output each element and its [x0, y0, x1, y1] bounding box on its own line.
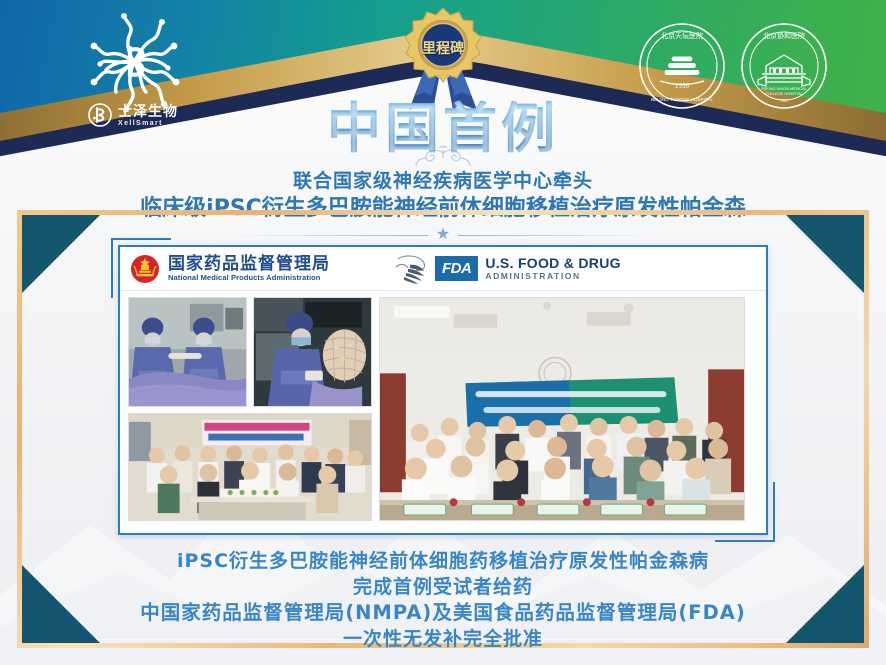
team-cake-scene-icon [129, 414, 371, 520]
svg-text:北京天坛医院: 北京天坛医院 [661, 31, 703, 40]
bottom-copy-line-2: 完成首例受试者给药 [0, 574, 886, 600]
collage-left-column [128, 297, 372, 521]
surgery-photo-right [253, 297, 372, 407]
surgery-photo-left [128, 297, 247, 407]
bottom-copy-line-3: 中国家药品监督管理局(NMPA)及美国食品药品监督管理局(FDA) [0, 600, 886, 626]
launch-meeting-scene-icon [380, 298, 744, 520]
nmpa-name-en: National Medical Products Administration [168, 274, 330, 282]
subtitle-line-1: 联合国家级神经疾病医学中心牵头 [0, 168, 886, 194]
surgery-scene-icon [129, 298, 246, 406]
china-national-emblem-icon [130, 254, 160, 284]
svg-text:北京协和医院: 北京协和医院 [763, 31, 805, 40]
content-card: 国家药品监督管理局 National Medical Products Admi… [118, 245, 768, 535]
bottom-copy-line-1: iPSC衍生多巴胺能神经前体细胞药移植治疗原发性帕金森病 [0, 548, 886, 574]
ornament-flourish-icon [398, 146, 488, 168]
medal-label: 里程碑 [422, 38, 464, 58]
team-photo-banner [379, 297, 745, 521]
fda-title-line-2: ADMINISTRATION [485, 272, 620, 281]
poster-root: 士泽生物 XellSmart 1956 北京天坛医院 BEIJING TIANT… [0, 0, 886, 665]
nmpa-name-cn: 国家药品监督管理局 [168, 255, 330, 273]
fda-badge: FDA [435, 256, 478, 281]
agency-logo-bar: 国家药品监督管理局 National Medical Products Admi… [120, 247, 766, 291]
team-photo-cake [128, 413, 372, 521]
nmpa-logo: 国家药品监督管理局 National Medical Products Admi… [130, 254, 330, 284]
bottom-copy-line-4: 一次性无发补完全批准 [0, 626, 886, 652]
collage-top-row [128, 297, 372, 407]
bottom-copy-block: iPSC衍生多巴胺能神经前体细胞药移植治疗原发性帕金森病 完成首例受试者给药 中… [0, 548, 886, 652]
fda-title-line-1: U.S. FOOD & DRUG [485, 256, 620, 271]
hhs-seal-icon [394, 253, 428, 285]
photo-collage [120, 291, 766, 529]
fda-logo: FDA U.S. FOOD & DRUG ADMINISTRATION [394, 253, 621, 285]
surgery-closeup-icon [254, 298, 371, 406]
